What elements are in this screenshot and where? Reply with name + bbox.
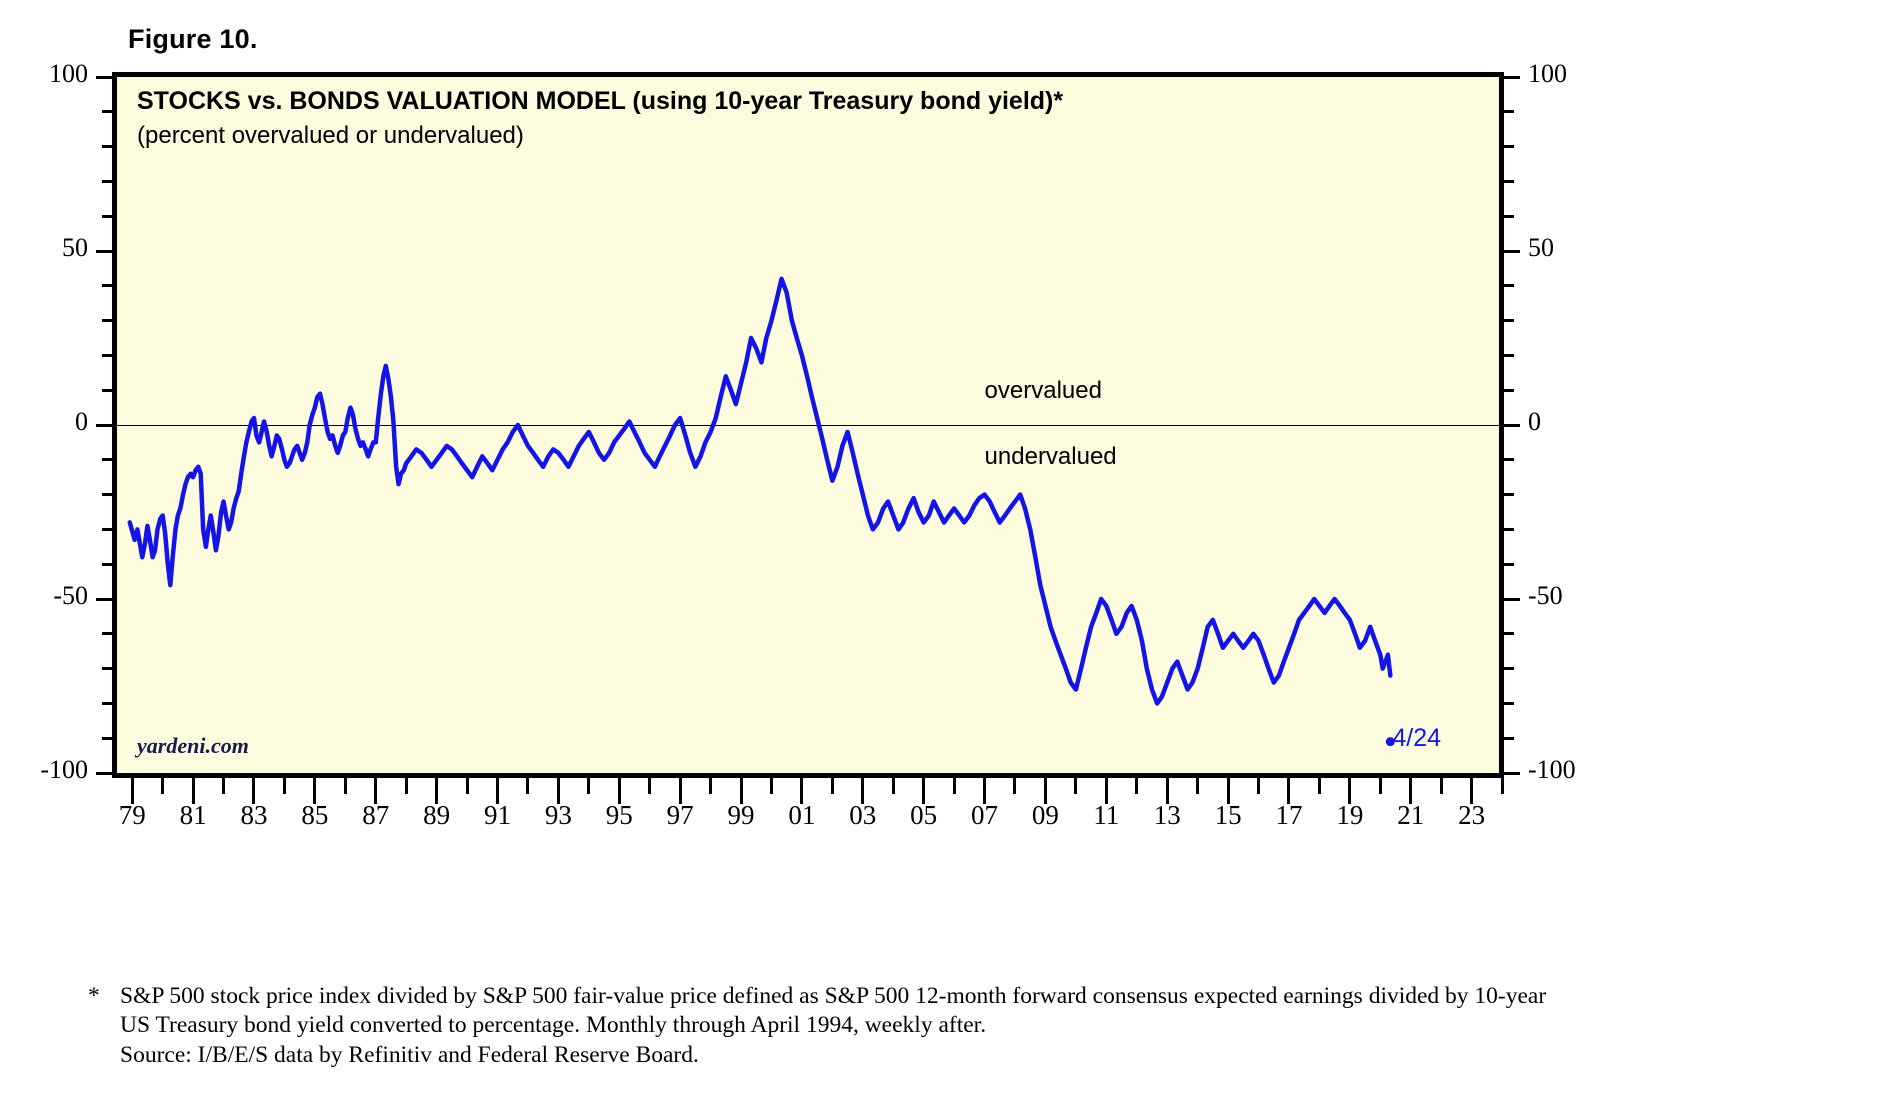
- y-tick-left-30: [102, 319, 112, 322]
- x-tick-2022: [1440, 778, 1443, 794]
- y-tick-right-70: [1504, 180, 1514, 183]
- y-tick-right-30: [1504, 319, 1514, 322]
- chart-plot-inner: STOCKS vs. BONDS VALUATION MODEL (using …: [117, 77, 1499, 773]
- y-tick-right--100: [1504, 772, 1520, 775]
- footnote-line-2: US Treasury bond yield converted to perc…: [120, 1011, 1848, 1040]
- y-tick-left--40: [102, 563, 112, 566]
- x-axis-label-23: 23: [1442, 800, 1502, 831]
- y-tick-left--90: [102, 737, 112, 740]
- y-tick-left-80: [102, 145, 112, 148]
- x-axis-label-99: 99: [711, 800, 771, 831]
- footnote-star: *: [88, 982, 120, 1011]
- y-tick-right--50: [1504, 598, 1520, 601]
- y-tick-right-20: [1504, 354, 1514, 357]
- y-tick-left-60: [102, 215, 112, 218]
- x-axis-label-03: 03: [833, 800, 893, 831]
- x-tick-1998: [709, 778, 712, 794]
- y-tick-left--20: [102, 493, 112, 496]
- footnote-star-row: * S&P 500 stock price index divided by S…: [88, 982, 1848, 1011]
- x-tick-1994: [587, 778, 590, 794]
- y-tick-left--10: [102, 458, 112, 461]
- y-tick-right-50: [1504, 250, 1520, 253]
- y-tick-right-40: [1504, 284, 1514, 287]
- x-axis-label-15: 15: [1198, 800, 1258, 831]
- x-axis-label-85: 85: [285, 800, 345, 831]
- y-axis-label-right--100: -100: [1528, 755, 1576, 785]
- x-tick-2020: [1379, 778, 1382, 794]
- y-axis-label-right-0: 0: [1528, 407, 1541, 437]
- y-axis-label-right-50: 50: [1528, 233, 1554, 263]
- y-tick-right-10: [1504, 389, 1514, 392]
- x-tick-1982: [222, 778, 225, 794]
- x-tick-1988: [405, 778, 408, 794]
- y-axis-label-left--50: -50: [0, 581, 88, 611]
- y-tick-left--100: [96, 772, 112, 775]
- series-polyline: [130, 279, 1391, 704]
- y-tick-left--50: [96, 598, 112, 601]
- x-tick-1986: [344, 778, 347, 794]
- x-tick-2024: [1501, 778, 1504, 794]
- annotation-overvalued: overvalued: [985, 377, 1102, 405]
- y-tick-left--80: [102, 702, 112, 705]
- y-tick-right--10: [1504, 458, 1514, 461]
- y-tick-left-70: [102, 180, 112, 183]
- y-tick-right-0: [1504, 424, 1520, 427]
- y-tick-right-60: [1504, 215, 1514, 218]
- x-axis-label-05: 05: [894, 800, 954, 831]
- x-axis-label-97: 97: [650, 800, 710, 831]
- series-line-chart: [117, 77, 1499, 773]
- footnote-line-3: Source: I/B/E/S data by Refinitiv and Fe…: [120, 1041, 1848, 1070]
- y-tick-left-10: [102, 389, 112, 392]
- y-axis-label-right--50: -50: [1528, 581, 1563, 611]
- x-axis-label-19: 19: [1320, 800, 1380, 831]
- annotation-undervalued: undervalued: [985, 443, 1117, 471]
- y-tick-right--90: [1504, 737, 1514, 740]
- chart-subtitle: (percent overvalued or undervalued): [137, 122, 524, 150]
- x-axis-label-89: 89: [407, 800, 467, 831]
- y-tick-right--20: [1504, 493, 1514, 496]
- footnotes: * S&P 500 stock price index divided by S…: [88, 982, 1848, 1070]
- y-tick-right--40: [1504, 563, 1514, 566]
- x-axis-label-81: 81: [163, 800, 223, 831]
- x-axis-label-17: 17: [1259, 800, 1319, 831]
- x-tick-2004: [892, 778, 895, 794]
- x-tick-2016: [1257, 778, 1260, 794]
- x-tick-2012: [1135, 778, 1138, 794]
- x-axis-label-11: 11: [1076, 800, 1136, 831]
- y-tick-left-0: [96, 424, 112, 427]
- x-tick-1996: [648, 778, 651, 794]
- x-tick-1992: [526, 778, 529, 794]
- x-tick-2000: [770, 778, 773, 794]
- x-axis-label-95: 95: [589, 800, 649, 831]
- x-axis-label-79: 79: [102, 800, 162, 831]
- watermark-yardeni: yardeni.com: [137, 733, 249, 759]
- y-axis-label-left-50: 50: [0, 233, 88, 263]
- y-tick-left-50: [96, 250, 112, 253]
- y-axis-label-left-100: 100: [0, 59, 88, 89]
- y-tick-left--30: [102, 528, 112, 531]
- y-tick-right-100: [1504, 76, 1520, 79]
- x-tick-2002: [831, 778, 834, 794]
- x-tick-2018: [1318, 778, 1321, 794]
- x-tick-2006: [953, 778, 956, 794]
- x-axis-label-07: 07: [955, 800, 1015, 831]
- y-tick-left-90: [102, 110, 112, 113]
- y-tick-right--70: [1504, 667, 1514, 670]
- y-tick-right--30: [1504, 528, 1514, 531]
- y-tick-right-80: [1504, 145, 1514, 148]
- y-tick-left-40: [102, 284, 112, 287]
- x-tick-2010: [1074, 778, 1077, 794]
- chart-plot-area: STOCKS vs. BONDS VALUATION MODEL (using …: [112, 72, 1504, 778]
- x-axis-label-93: 93: [528, 800, 588, 831]
- y-tick-left-100: [96, 76, 112, 79]
- x-axis-label-01: 01: [772, 800, 832, 831]
- figure-label: Figure 10.: [128, 24, 258, 55]
- x-axis-label-83: 83: [224, 800, 284, 831]
- x-axis-label-91: 91: [468, 800, 528, 831]
- y-tick-right--80: [1504, 702, 1514, 705]
- x-tick-1984: [283, 778, 286, 794]
- annotation-last-value: 4/24: [1392, 724, 1441, 753]
- x-tick-2008: [1013, 778, 1016, 794]
- y-tick-left--70: [102, 667, 112, 670]
- x-axis-label-87: 87: [346, 800, 406, 831]
- y-tick-left-20: [102, 354, 112, 357]
- x-axis-label-09: 09: [1015, 800, 1075, 831]
- y-axis-label-right-100: 100: [1528, 59, 1567, 89]
- y-tick-right-90: [1504, 110, 1514, 113]
- y-axis-label-left--100: -100: [0, 755, 88, 785]
- y-tick-left--60: [102, 632, 112, 635]
- x-axis-label-21: 21: [1381, 800, 1441, 831]
- footnote-line-1: S&P 500 stock price index divided by S&P…: [120, 982, 1848, 1011]
- x-tick-2014: [1196, 778, 1199, 794]
- y-tick-right--60: [1504, 632, 1514, 635]
- chart-title: STOCKS vs. BONDS VALUATION MODEL (using …: [137, 87, 1063, 116]
- x-tick-1980: [161, 778, 164, 794]
- x-tick-1990: [466, 778, 469, 794]
- y-axis-label-left-0: 0: [0, 407, 88, 437]
- x-axis-label-13: 13: [1137, 800, 1197, 831]
